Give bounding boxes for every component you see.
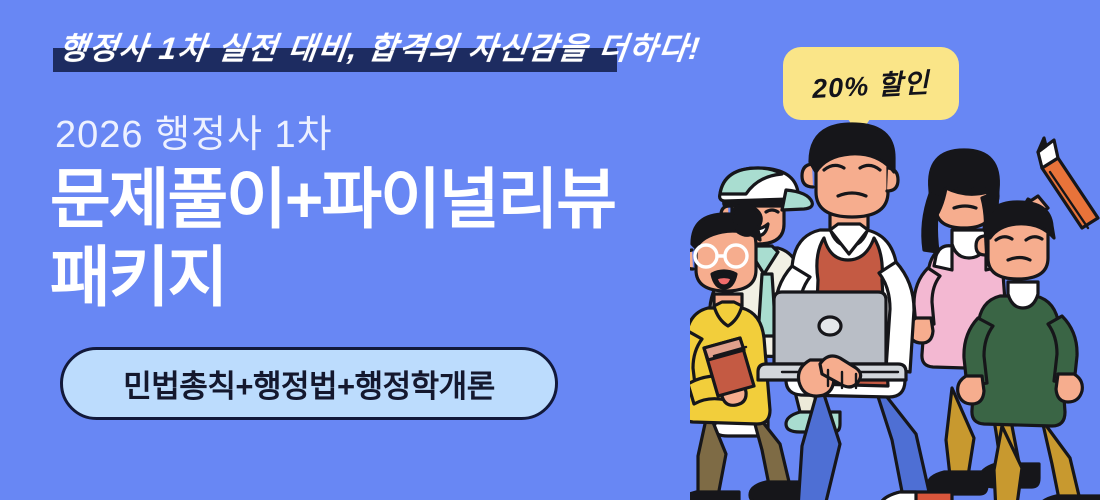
subject-list-text: 민법총칙+행정법+행정학개론 [123,361,494,406]
subtitle: 2026 행정사 1차 [55,103,333,158]
tagline: 행정사 1차 실전 대비, 합격의 자신감을 더하다! [53,22,653,92]
subject-list-pill[interactable]: 민법총칙+행정법+행정학개론 [60,347,558,420]
tagline-text: 행정사 1차 실전 대비, 합격의 자신감을 더하다! [56,22,704,76]
discount-badge-text: 20% 할인 [811,61,930,106]
students-illustration [690,120,1100,500]
figure-boy-green [958,202,1100,500]
discount-badge[interactable]: 20% 할인 [783,47,959,120]
promo-banner: 행정사 1차 실전 대비, 합격의 자신감을 더하다! 2026 행정사 1차 … [0,0,1100,500]
